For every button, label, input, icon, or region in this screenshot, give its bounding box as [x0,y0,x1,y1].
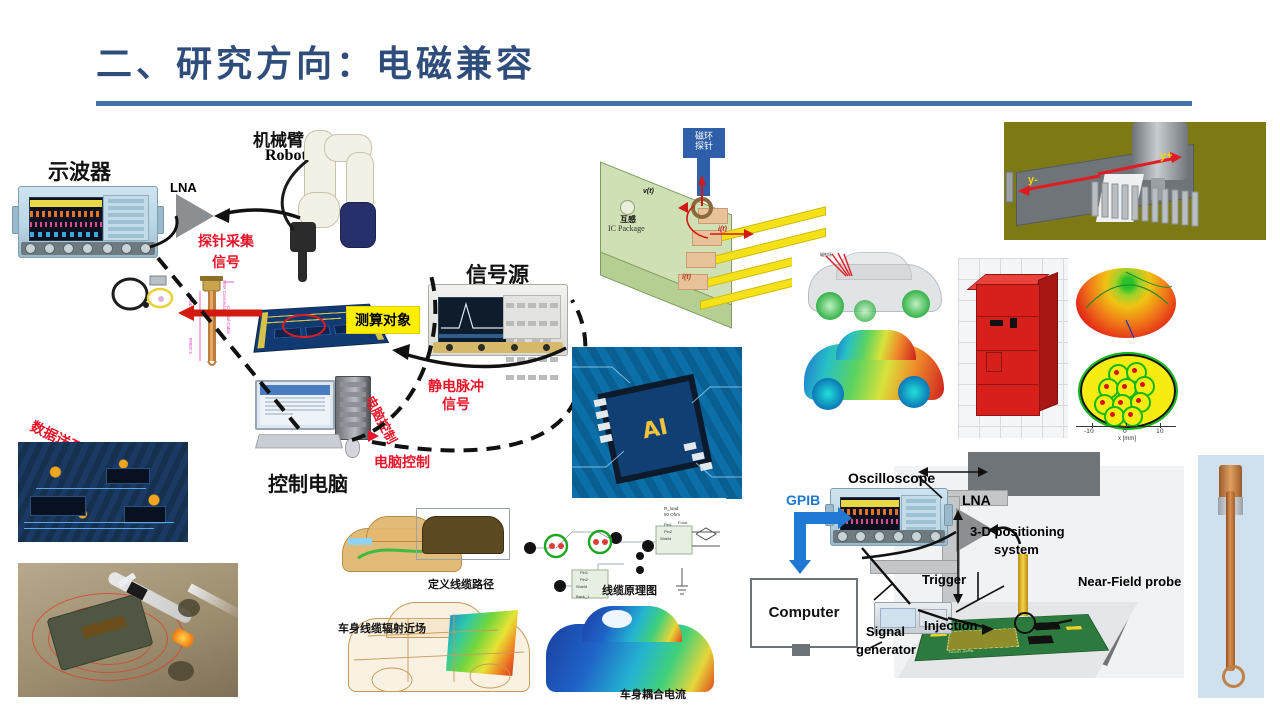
pcb-ic [106,468,150,484]
pcb-trace [36,488,146,489]
cad-probe-over-ic-model: y+ y- [1004,122,1266,240]
scope-trace-cyan [30,232,102,237]
coaxial-cable-photo [108,272,180,318]
vna-port [543,344,550,351]
pcb-ic [30,496,86,516]
near-field-probe-drawing: SMA Connector Coaxial Cable 7.30mm 2.10m… [186,276,242,376]
pc-control-arrow-marker [368,430,379,442]
lna-amplifier-symbol [176,194,214,238]
ai-chip-pins-icon [572,347,742,499]
scope-trace-orange [30,211,102,217]
radiation-axes-icon [1068,258,1186,350]
schematic-shield: Shield [660,536,671,541]
near-field-scan-setup-diagram: Scan area [742,452,1198,704]
near-field-probe-label: Near-Field probe [1078,574,1181,589]
scope-knob-row [21,242,155,255]
car-wheel-green [854,300,876,322]
esd-pulse-label-line2: 信号 [442,394,470,414]
vna-chassis [428,284,568,356]
signal-generator-label-2: generator [856,642,916,657]
dut-red-arrow-icon [178,300,264,326]
gpib-label: GPIB [786,492,820,508]
cabinet-side-face [1038,272,1058,412]
vehicle-emc-simulation-panel: 辐射场 [792,248,954,444]
3d-radiation-pattern-plot [1068,258,1186,350]
current-annotation: i(t) [718,226,727,233]
cabinet-seam [976,350,1038,351]
probe-photo-shaft [1226,491,1235,671]
signal-source-device [428,284,568,356]
car-window [602,610,632,628]
cabinet-seam [976,384,1038,385]
pc-mouse[interactable] [345,438,360,458]
setup-oscilloscope-label: Oscilloscope [848,470,935,486]
scope-knob [44,243,55,254]
car-wheel-green [816,292,844,320]
robot-cable-icon [268,160,328,260]
car-panel-3-label: 车身线缆辐射近场 [338,620,426,636]
car-heat-wheel [898,376,930,408]
probe-drawing-icon [186,276,242,376]
robot-arm [268,130,388,305]
terrain-bush [178,599,200,617]
car-heat-wheel [812,378,844,410]
pcb-trace [24,522,174,523]
coupled-current-car-roof [582,606,682,642]
oscilloscope-label: 示波器 [48,156,111,186]
cad-pins-and-arrows-icon [1004,122,1266,240]
scope-knob [140,243,151,254]
car-panel-4-label: 车身耦合电流 [620,686,686,702]
pc-app-titlebar [260,385,330,395]
svg-text:辐射场: 辐射场 [820,251,832,257]
wire-arrowhead-lna [214,208,230,223]
slide-root: 二、研究方向：电磁兼容 示波器 [0,0,1280,720]
control-pc-label: 控制电脑 [268,468,348,497]
xsec-x-axis-label: x [mm] [1068,436,1186,442]
schematic-pin2: Pin2 [664,529,672,534]
car-field-arrows-icon: 辐射场 [802,250,872,290]
schematic-pin1: Pin1 [664,522,672,527]
cad-axis-y-negative: y- [1028,174,1038,186]
pc-control-label: 电脑控制 [374,452,430,472]
robot-base-blue [340,202,376,248]
current-annotation-2: i(t) [682,274,691,281]
cable-path-tag [348,538,372,545]
dut-highlight-circle [282,314,326,338]
terrain-bush [168,661,194,681]
cabinet-panel-door [986,352,1002,372]
scope-knob [63,243,74,254]
trigger-label: Trigger [922,572,966,587]
schematic-value-2: 50 Ohm [664,512,680,517]
vna-port [511,344,518,351]
pc-monitor [255,380,335,430]
scope-trace-pink [30,222,102,227]
scope-trace-yellow [30,200,102,207]
schematic-value-1: R_load [664,506,678,511]
vna-port-row [433,342,563,353]
pc-screen [260,385,330,425]
vehicle-missile-launch-photo [18,563,238,697]
emc-cabinet-cad-panel [958,258,1068,438]
car-wireframe-lines-icon [348,602,530,692]
title-block: 二、研究方向：电磁兼容 [96,45,1192,85]
schematic-pin2-b: Pin2 [580,577,588,582]
car-wheel-green [902,290,930,318]
car-panel-2-label: 线缆原理图 [602,582,657,598]
ai-chip-photo: AI [572,347,742,499]
cabinet-button[interactable] [1010,318,1017,328]
probe-photo-loop-tip [1222,665,1245,688]
pc-keyboard[interactable] [255,434,343,448]
scope-screen [29,197,103,241]
probe-signal-label-line1: 探针采集 [198,234,254,252]
xsec-tick-label: 0 [1123,428,1127,435]
scope-chassis [18,186,158,258]
positioning-system-label-1: 3-D positioning [970,524,1065,539]
xsec-tick-label: -10 [1084,428,1094,435]
car-heatmap-roof [836,330,916,360]
cable-path-inset-frame [416,508,510,560]
schematic-pin1-b: Pin1 [580,570,588,575]
title-underline-rule [96,101,1192,106]
signal-generator-label-1: Signal [866,624,905,639]
cabinet-seam [976,316,1038,317]
xsec-tick-label: 10 [1156,428,1164,435]
cabinet-display [990,320,1003,326]
cable-coil-icon [108,272,180,318]
ic-package-label: IC Package [608,224,645,233]
magnetic-loop-probe-box: 磁环 探针 [683,128,725,158]
vna-keypad[interactable] [503,295,561,339]
near-field-probe-photo [1198,455,1264,698]
cable-cross-section-chart: -10 0 10 x [mm] [1068,350,1186,446]
voltage-annotation: v(t) [643,188,654,195]
positioning-system-label-2: system [994,542,1039,557]
setup-lna-label: LNA [962,492,991,508]
page-title: 二、研究方向：电磁兼容 [96,45,1192,85]
control-computer [255,376,380,464]
ic-package-pin1-marker [620,200,635,215]
scope-knob [102,243,113,254]
probe-box-line2: 探针 [695,142,713,152]
schematic-block-front: Front [678,520,687,525]
vna-port [478,344,485,351]
cad-axis-y-positive: y+ [1160,150,1173,162]
vna-screen [438,297,510,343]
pcb-closeup-photo [18,442,188,542]
vna-trace-icon [439,298,509,342]
pcb-trace [24,528,154,529]
injection-label: Injection [924,618,977,633]
schematic-shield-b: Shield [576,584,587,589]
dut-callout-badge: 测算对象 [346,306,420,334]
probe-signal-label-line2: 信号 [212,252,240,272]
scope-knob [121,243,132,254]
esd-pulse-label-line1: 静电脉冲 [428,376,484,396]
wire-arrowhead-dut [392,344,410,360]
oscilloscope-device [18,186,158,258]
probe-box-line1: 磁环 [695,132,713,142]
lna-label: LNA [170,180,197,195]
scope-knob [82,243,93,254]
vna-port [446,344,453,351]
scope-control-panel [103,195,149,241]
car-panel-1-label: 定义线缆路径 [428,576,494,592]
schematic-block-back: Back_1 [576,594,589,599]
vehicle-cable-emc-panels: 定义线缆路径 R_load 50 Ohm [334,498,726,712]
probe-dim-2: 2.10mm [188,338,193,354]
scope-knob [25,243,36,254]
